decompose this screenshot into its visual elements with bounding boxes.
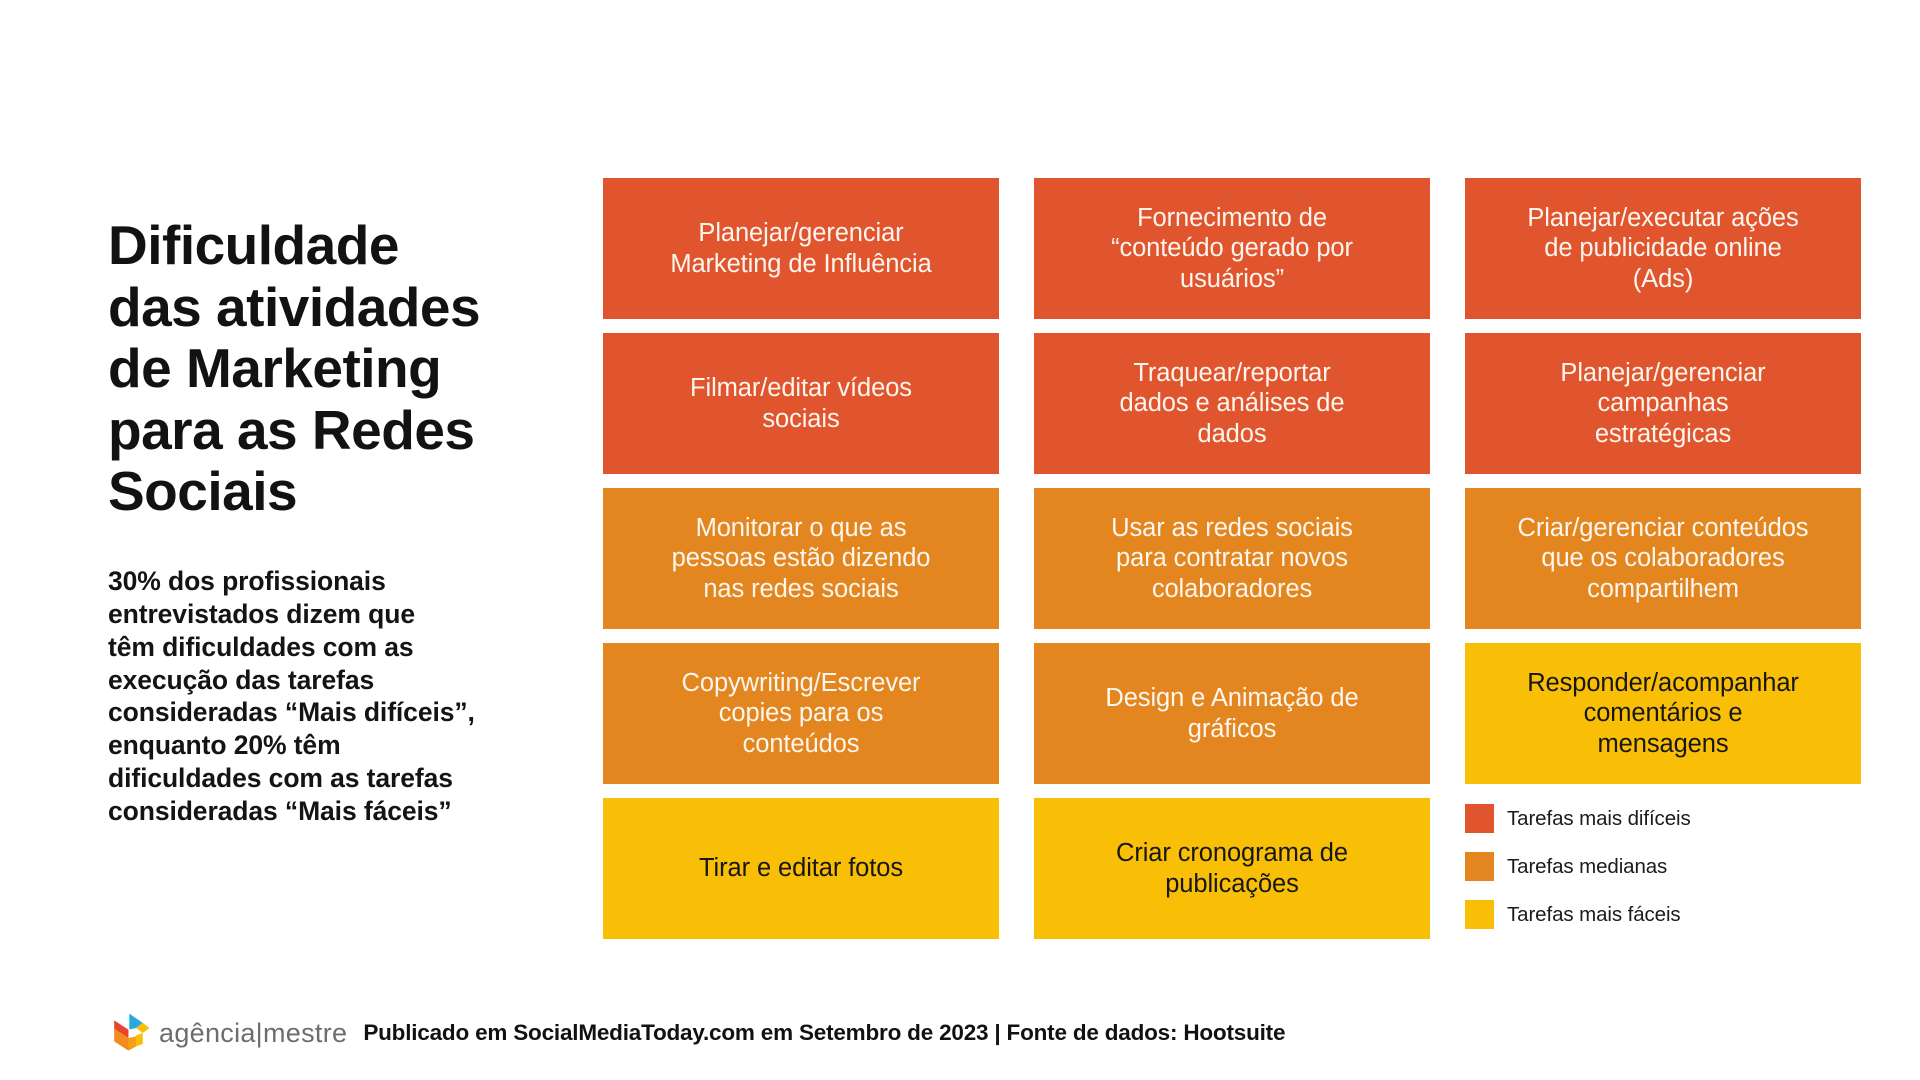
legend-color-swatch: [1465, 852, 1494, 881]
brand-logo: agência|mestre: [110, 1012, 347, 1054]
legend-item: Tarefas mais fáceis: [1465, 900, 1861, 929]
agencia-mestre-logo-icon: [110, 1012, 152, 1054]
summary-paragraph: 30% dos profissionais entrevistados dize…: [108, 565, 568, 828]
task-card: Usar as redes sociais para contratar nov…: [1034, 488, 1430, 629]
task-card: Design e Animação de gráficos: [1034, 643, 1430, 784]
legend: Tarefas mais difíceisTarefas medianasTar…: [1465, 798, 1861, 939]
task-card: Monitorar o que as pessoas estão dizendo…: [603, 488, 999, 629]
legend-label: Tarefas medianas: [1507, 855, 1667, 879]
legend-label: Tarefas mais difíceis: [1507, 807, 1691, 831]
task-card: Copywriting/Escrever copies para os cont…: [603, 643, 999, 784]
task-card: Tirar e editar fotos: [603, 798, 999, 939]
legend-label: Tarefas mais fáceis: [1507, 903, 1681, 927]
task-card: Planejar/gerenciar Marketing de Influênc…: [603, 178, 999, 319]
infographic-canvas: Dificuldade das atividades de Marketing …: [0, 0, 1920, 1080]
legend-item: Tarefas medianas: [1465, 852, 1861, 881]
task-card: Criar/gerenciar conteúdos que os colabor…: [1465, 488, 1861, 629]
brand-wordmark: agência|mestre: [159, 1018, 347, 1049]
legend-item: Tarefas mais difíceis: [1465, 804, 1861, 833]
legend-color-swatch: [1465, 804, 1494, 833]
task-card-grid: Planejar/gerenciar Marketing de Influênc…: [603, 178, 1861, 939]
footer: agência|mestre Publicado em SocialMediaT…: [110, 1012, 1285, 1054]
task-card: Fornecimento de “conteúdo gerado por usu…: [1034, 178, 1430, 319]
task-card: Responder/acompanhar comentários e mensa…: [1465, 643, 1861, 784]
task-card: Traquear/reportar dados e análises de da…: [1034, 333, 1430, 474]
left-text-panel: Dificuldade das atividades de Marketing …: [108, 215, 568, 828]
task-card: Planejar/executar ações de publicidade o…: [1465, 178, 1861, 319]
task-card: Criar cronograma de publicações: [1034, 798, 1430, 939]
page-title: Dificuldade das atividades de Marketing …: [108, 215, 568, 523]
task-card: Planejar/gerenciar campanhas estratégica…: [1465, 333, 1861, 474]
legend-color-swatch: [1465, 900, 1494, 929]
footer-source-text: Publicado em SocialMediaToday.com em Set…: [363, 1020, 1285, 1046]
task-card: Filmar/editar vídeos sociais: [603, 333, 999, 474]
